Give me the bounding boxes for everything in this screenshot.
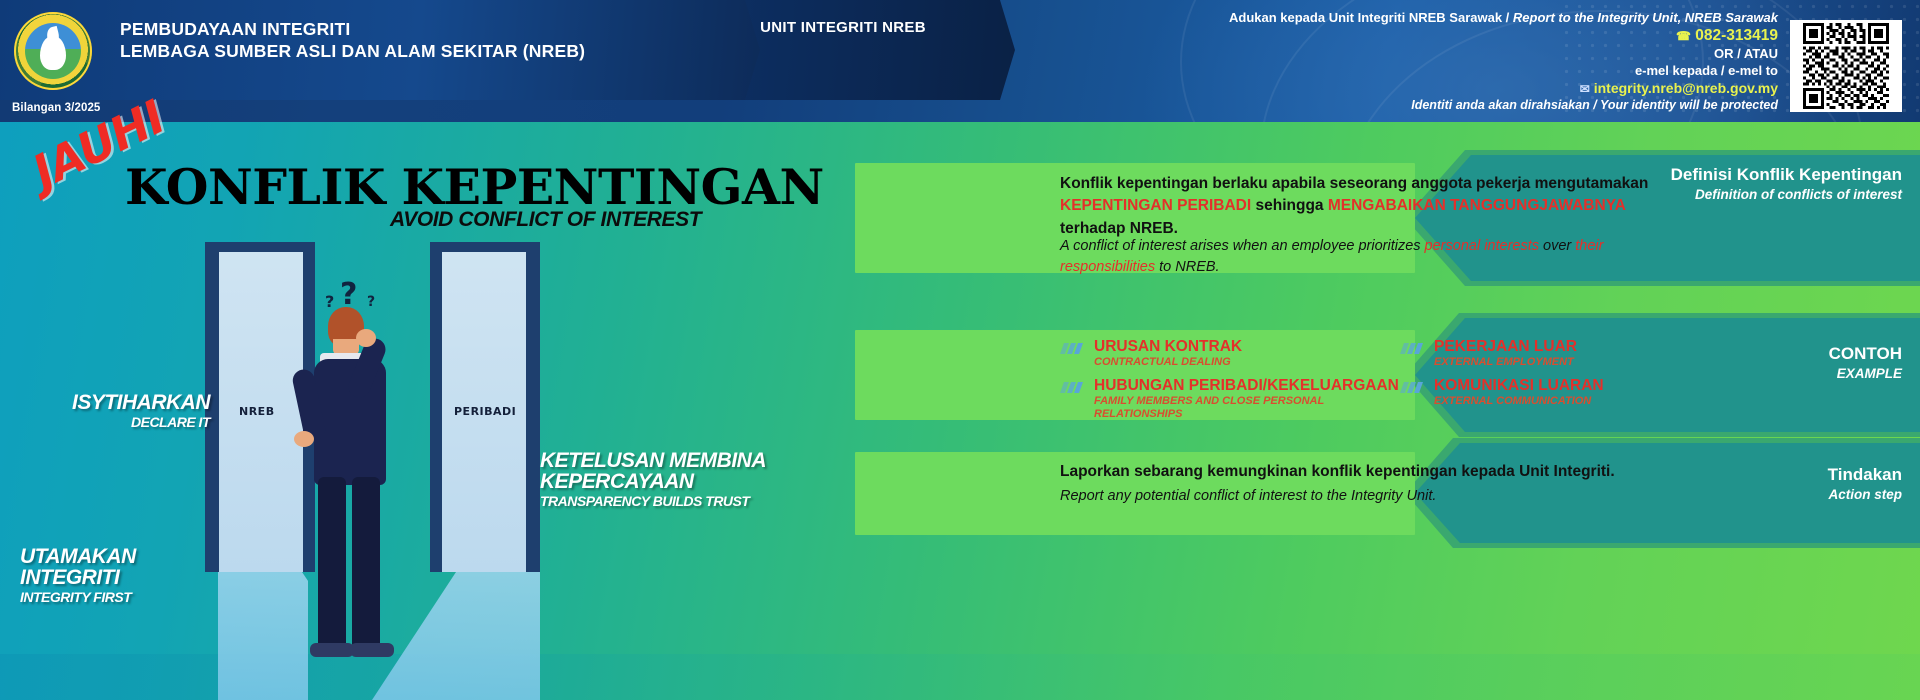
label-trust: KETELUSAN MEMBINA KEPERCAYAAN TRANSPAREN… xyxy=(540,450,800,508)
label-integrity-en: INTEGRITY FIRST xyxy=(20,590,200,604)
person-leg-left xyxy=(318,477,346,649)
action-text-ms: Laporkan sebarang kemungkinan konflik ke… xyxy=(1060,463,1680,481)
definition-ms-red2: MENGABAIKAN TANGGUNGJAWABNYA xyxy=(1328,197,1625,214)
header-report-ms: Adukan kepada Unit Integriti NREB Sarawa… xyxy=(1229,10,1513,25)
door-peribadi-edge xyxy=(430,252,442,572)
header-org-line1: PEMBUDAYAAN INTEGRITI xyxy=(120,18,585,40)
header-contact-block: Adukan kepada Unit Integriti NREB Sarawa… xyxy=(1138,10,1778,112)
arrow-bars-icon xyxy=(1402,343,1426,355)
definition-ms-part3: terhadap NREB. xyxy=(1060,220,1178,237)
example-item-en: EXTERNAL COMMUNICATION xyxy=(1434,395,1702,408)
header-report-en: Report to the Integrity Unit, NREB Saraw… xyxy=(1513,10,1778,25)
arrow-bars-icon xyxy=(1062,382,1086,394)
example-column-right: PEKERJAAN LUAR EXTERNAL EMPLOYMENT KOMUN… xyxy=(1402,338,1702,416)
door-nreb-label: NREB xyxy=(239,405,275,418)
label-integrity-ms: UTAMAKAN INTEGRITI xyxy=(20,546,200,588)
definition-en-part1: A conflict of interest arises when an em… xyxy=(1060,238,1425,254)
example-item-ms: PEKERJAAN LUAR xyxy=(1434,338,1702,355)
header-email-address: integrity.nreb@nreb.gov.my xyxy=(1594,80,1778,96)
door-peribadi-jamb xyxy=(526,242,540,572)
qr-code[interactable] xyxy=(1790,20,1902,112)
poster-root: PEMBUDAYAAN INTEGRITI LEMBAGA SUMBER ASL… xyxy=(0,0,1920,700)
header-protect-note: Identiti anda akan dirahsiakan / Your id… xyxy=(1138,98,1778,112)
definition-ms-red1: KEPENTINGAN PERIBADI xyxy=(1060,197,1251,214)
person-left-hand xyxy=(294,431,314,447)
door-nreb-lightbeam xyxy=(218,572,308,700)
door-nreb-header xyxy=(205,242,315,252)
person-hand-on-head xyxy=(356,329,376,347)
door-peribadi-header xyxy=(430,242,540,252)
page-header: PEMBUDAYAAN INTEGRITI LEMBAGA SUMBER ASL… xyxy=(0,0,1920,122)
example-item: URUSAN KONTRAK CONTRACTUAL DEALING xyxy=(1062,338,1402,369)
label-declare-ms: ISYTIHARKAN xyxy=(30,392,210,413)
phone-icon: ☎ xyxy=(1676,29,1691,43)
definition-ms-part1: Konflik kepentingan berlaku apabila sese… xyxy=(1060,175,1648,192)
door-peribadi-label: PERIBADI xyxy=(454,405,516,418)
example-item-en: CONTRACTUAL DEALING xyxy=(1094,356,1402,369)
header-report-line: Adukan kepada Unit Integriti NREB Sarawa… xyxy=(1138,10,1778,25)
standing-person xyxy=(300,307,420,700)
mail-icon: ✉ xyxy=(1580,82,1590,96)
person-shoe-left xyxy=(310,643,354,657)
definition-ms-part2: sehingga xyxy=(1251,197,1328,214)
header-email-label: e-mel kepada / e-mel to xyxy=(1138,63,1778,78)
label-declare-en: DECLARE IT xyxy=(30,415,210,429)
person-leg-right xyxy=(352,477,380,649)
example-item-ms: URUSAN KONTRAK xyxy=(1094,338,1402,355)
issue-number: Bilangan 3/2025 xyxy=(12,102,100,114)
label-trust-en: TRANSPARENCY BUILDS TRUST xyxy=(540,494,800,508)
example-item-ms: KOMUNIKASI LUARAN xyxy=(1434,377,1702,394)
definition-en-part2: over xyxy=(1539,238,1575,254)
header-phone-row[interactable]: ☎ 082-313419 xyxy=(1138,27,1778,45)
header-org-title: PEMBUDAYAAN INTEGRITI LEMBAGA SUMBER ASL… xyxy=(120,18,585,62)
header-org-line2: LEMBAGA SUMBER ASLI DAN ALAM SEKITAR (NR… xyxy=(120,40,585,62)
header-unit-title: UNIT INTEGRITI NREB xyxy=(693,19,993,36)
nreb-logo xyxy=(14,12,92,90)
illustration: NREB PERIBADI ? ? ? xyxy=(0,122,840,700)
header-phone-number: 082-313419 xyxy=(1695,27,1778,44)
label-declare: ISYTIHARKAN DECLARE IT xyxy=(30,392,210,429)
label-integrity: UTAMAKAN INTEGRITI INTEGRITY FIRST xyxy=(20,546,200,604)
definition-en-red1: personal interests xyxy=(1425,238,1539,254)
definition-text-en: A conflict of interest arises when an em… xyxy=(1060,236,1680,277)
example-item-ms: HUBUNGAN PERIBADI/KEKELUARGAAN xyxy=(1094,377,1402,394)
arrow-bars-icon xyxy=(1402,382,1426,394)
example-item-en: FAMILY MEMBERS AND CLOSE PERSONAL RELATI… xyxy=(1094,395,1402,421)
example-column-left: URUSAN KONTRAK CONTRACTUAL DEALING HUBUN… xyxy=(1062,338,1402,430)
qr-code-icon xyxy=(1793,23,1899,109)
arrow-bars-icon xyxy=(1062,343,1086,355)
example-item-en: EXTERNAL EMPLOYMENT xyxy=(1434,356,1702,369)
example-item: PEKERJAAN LUAR EXTERNAL EMPLOYMENT xyxy=(1402,338,1702,369)
example-item: KOMUNIKASI LUARAN EXTERNAL COMMUNICATION xyxy=(1402,377,1702,408)
header-or-atau: OR / ATAU xyxy=(1138,46,1778,61)
action-text-en: Report any potential conflict of interes… xyxy=(1060,488,1680,504)
definition-en-part3: to NREB. xyxy=(1155,259,1219,275)
door-peribadi: PERIBADI xyxy=(430,242,540,572)
label-trust-ms: KETELUSAN MEMBINA KEPERCAYAAN xyxy=(540,450,800,492)
definition-text-ms: Konflik kepentingan berlaku apabila sese… xyxy=(1060,173,1670,240)
header-email-row[interactable]: ✉ integrity.nreb@nreb.gov.my xyxy=(1138,80,1778,96)
person-shoe-right xyxy=(350,643,394,657)
example-item: HUBUNGAN PERIBADI/KEKELUARGAAN FAMILY ME… xyxy=(1062,377,1402,421)
